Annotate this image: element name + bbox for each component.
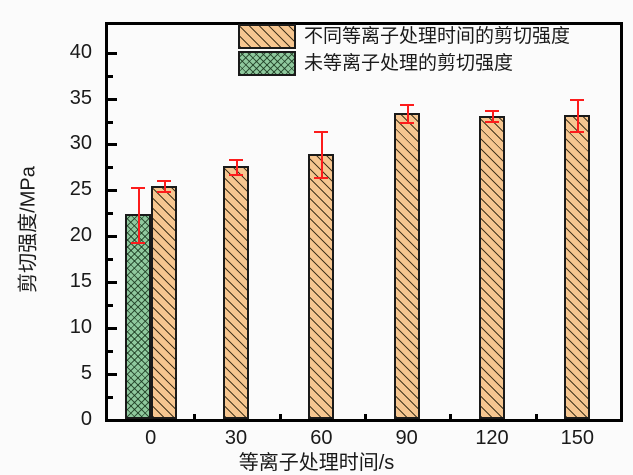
- x-tick-label: 120: [462, 428, 522, 448]
- error-treated-120-cap: [485, 121, 499, 123]
- y-tick-major: [108, 52, 117, 55]
- orange-hatched-swatch: [238, 24, 296, 49]
- error-treated-90-cap: [400, 122, 414, 124]
- error-treated-0-cap: [157, 180, 171, 182]
- bar-treated-0: [151, 186, 177, 419]
- y-tick-minor: [108, 396, 113, 399]
- y-tick-major: [108, 281, 117, 284]
- chart-legend: 不同等离子处理时间的剪切强度 未等离子处理的剪切强度: [238, 24, 570, 76]
- error-treated-30: [236, 159, 238, 174]
- bar-treated-30: [223, 166, 249, 419]
- x-tick-minor: [535, 414, 538, 419]
- x-tick-label: 150: [547, 428, 607, 448]
- error-untreated-0-cap: [131, 187, 145, 189]
- bar-untreated-0: [125, 214, 151, 419]
- x-tick-label: 30: [206, 428, 266, 448]
- x-tick-minor: [364, 414, 367, 419]
- legend-item-untreated: 未等离子处理的剪切强度: [238, 51, 570, 76]
- error-treated-60: [321, 131, 323, 177]
- y-tick-label: 40: [0, 42, 92, 62]
- bar-treated-90: [394, 113, 420, 419]
- x-tick-label: 90: [377, 428, 437, 448]
- error-treated-120-cap: [485, 110, 499, 112]
- plot-area: [105, 22, 623, 422]
- y-tick-major: [108, 235, 117, 238]
- y-tick-major: [108, 373, 117, 376]
- legend-item-treated: 不同等离子处理时间的剪切强度: [238, 24, 570, 49]
- y-tick-minor: [108, 75, 113, 78]
- bar-treated-120: [479, 116, 505, 419]
- error-treated-150: [577, 99, 579, 130]
- y-tick-minor: [108, 258, 113, 261]
- error-treated-30-cap: [229, 159, 243, 161]
- error-treated-0-cap: [157, 191, 171, 193]
- bar-treated-60: [308, 154, 334, 419]
- y-tick-minor: [108, 212, 113, 215]
- y-tick-major: [108, 189, 117, 192]
- x-tick-minor: [279, 414, 282, 419]
- error-untreated-0: [138, 187, 140, 242]
- y-axis-title: 剪切强度/MPa: [12, 100, 41, 360]
- x-tick-label: 60: [291, 428, 351, 448]
- green-crosshatched-swatch: [238, 51, 296, 76]
- x-tick-minor: [193, 414, 196, 419]
- error-treated-30-cap: [229, 174, 243, 176]
- y-tick-label: 0: [0, 409, 92, 429]
- y-tick-minor: [108, 121, 113, 124]
- legend-label-untreated: 未等离子处理的剪切强度: [304, 54, 513, 74]
- chart-figure: 0510152025303540 剪切强度/MPa 0306090120150 …: [0, 0, 633, 471]
- y-tick-major: [108, 143, 117, 146]
- y-tick-minor: [108, 350, 113, 353]
- error-untreated-0-cap: [131, 242, 145, 244]
- y-tick-major: [108, 327, 117, 330]
- y-tick-minor: [108, 166, 113, 169]
- error-treated-150-cap: [570, 99, 584, 101]
- x-tick-minor: [449, 414, 452, 419]
- y-tick-label: 5: [0, 363, 92, 383]
- y-tick-major: [108, 98, 117, 101]
- error-treated-150-cap: [570, 131, 584, 133]
- x-tick-label: 0: [121, 428, 181, 448]
- plot-inner: [108, 25, 620, 419]
- error-treated-60-cap: [314, 131, 328, 133]
- y-tick-minor: [108, 304, 113, 307]
- error-treated-90: [407, 104, 409, 122]
- error-treated-90-cap: [400, 104, 414, 106]
- error-treated-60-cap: [314, 177, 328, 179]
- legend-label-treated: 不同等离子处理时间的剪切强度: [304, 27, 570, 47]
- bar-treated-150: [564, 115, 590, 419]
